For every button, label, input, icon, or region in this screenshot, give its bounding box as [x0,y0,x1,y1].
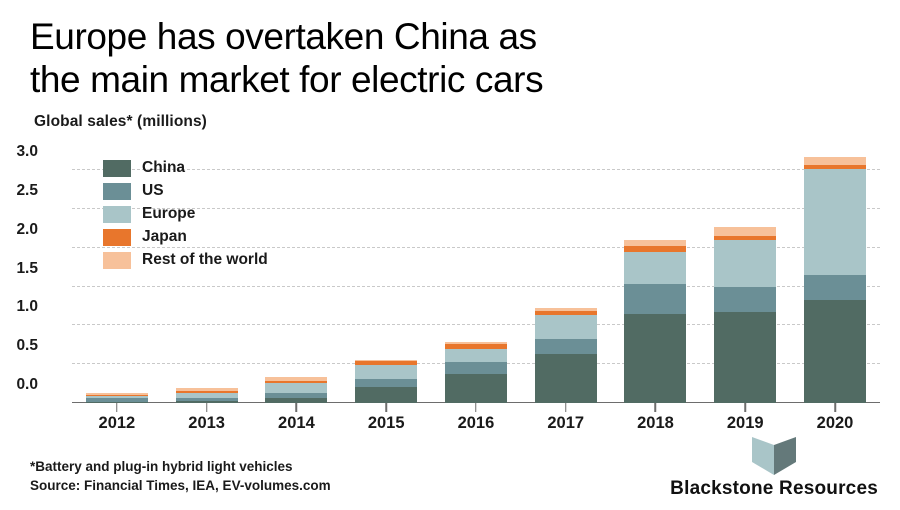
chart-header: Europe has overtaken China as the main m… [0,0,900,131]
x-axis-label-2020: 2020 [790,414,880,433]
bar-segment-china[interactable] [714,312,776,403]
legend-item-europe[interactable]: Europe [103,205,268,223]
stacked-bar[interactable] [714,227,776,403]
source-text: Source: Financial Times, IEA, EV-volumes… [30,476,331,496]
x-axis-tick [385,403,387,412]
stacked-bar[interactable] [535,308,597,403]
legend-item-japan[interactable]: Japan [103,228,268,246]
x-axis-label-2014: 2014 [252,414,342,433]
x-axis-label-2019: 2019 [700,414,790,433]
x-axis-label-2015: 2015 [341,414,431,433]
bar-segment-europe[interactable] [445,349,507,362]
stacked-bar[interactable] [176,388,238,403]
bar-segment-rest-of-the-world[interactable] [804,157,866,165]
stacked-bar[interactable] [804,157,866,403]
x-axis-label-2018: 2018 [611,414,701,433]
brand-logo: Blackstone Resources [670,436,878,500]
bar-group-2019[interactable] [700,151,790,403]
bar-group-2016[interactable] [431,151,521,403]
legend-swatch [103,252,131,269]
stacked-bar[interactable] [86,393,148,403]
bar-segment-europe[interactable] [804,169,866,275]
bar-group-2015[interactable] [341,151,431,403]
legend-label: China [142,159,185,177]
legend-label: Rest of the world [142,251,268,269]
x-axis-tick [116,403,118,412]
bar-segment-us[interactable] [355,379,417,387]
x-axis-labels: 201220132014201520162017201820192020 [72,414,880,433]
legend-item-rest-of-the-world[interactable]: Rest of the world [103,251,268,269]
bar-group-2017[interactable] [521,151,611,403]
brand-name: Blackstone Resources [670,478,878,500]
bar-segment-europe[interactable] [624,252,686,285]
x-axis-tick [834,403,836,412]
bar-segment-china[interactable] [624,314,686,403]
bar-segment-europe[interactable] [535,315,597,339]
bar-segment-europe[interactable] [355,365,417,379]
y-axis-tick-label: 1.0 [0,298,38,316]
bar-segment-us[interactable] [714,287,776,313]
y-axis-tick-label: 2.5 [0,182,38,200]
y-axis-tick-label: 0.5 [0,337,38,355]
x-axis-tick [565,403,567,412]
y-axis-tick-label: 1.5 [0,260,38,278]
bar-segment-us[interactable] [804,275,866,300]
legend-swatch [103,183,131,200]
bar-segment-china[interactable] [804,300,866,403]
x-axis-tick [296,403,298,412]
legend-item-us[interactable]: US [103,182,268,200]
y-axis-tick-label: 0.0 [0,376,38,394]
chart-legend: ChinaUSEuropeJapanRest of the world [103,159,268,269]
x-axis-label-2013: 2013 [162,414,252,433]
bar-segment-europe[interactable] [265,383,327,393]
footnote-text: *Battery and plug-in hybrid light vehicl… [30,457,331,477]
bar-group-2020[interactable] [790,151,880,403]
legend-label: US [142,182,164,200]
bar-segment-rest-of-the-world[interactable] [714,227,776,236]
x-axis-label-2016: 2016 [431,414,521,433]
x-axis-label-2017: 2017 [521,414,611,433]
x-axis-tick [744,403,746,412]
stacked-bar[interactable] [355,360,417,403]
stacked-bar[interactable] [445,342,507,403]
chart-subtitle: Global sales* (millions) [34,113,870,131]
x-axis-tick [655,403,657,412]
page-title: Europe has overtaken China as the main m… [30,16,870,102]
y-axis-tick-label: 3.0 [0,143,38,161]
legend-label: Europe [142,205,195,223]
bar-segment-europe[interactable] [714,240,776,287]
chart-footer: *Battery and plug-in hybrid light vehicl… [0,448,900,510]
bar-segment-china[interactable] [355,387,417,403]
stacked-bar[interactable] [624,240,686,403]
footnote-block: *Battery and plug-in hybrid light vehicl… [30,457,331,496]
legend-swatch [103,229,131,246]
bar-segment-china[interactable] [445,374,507,403]
bar-segment-us[interactable] [624,284,686,313]
x-axis-tick [475,403,477,412]
legend-label: Japan [142,228,187,246]
stacked-bar[interactable] [265,377,327,403]
legend-swatch [103,160,131,177]
legend-swatch [103,206,131,223]
x-axis-label-2012: 2012 [72,414,162,433]
bar-segment-us[interactable] [535,339,597,355]
x-axis-tick [206,403,208,412]
bar-group-2018[interactable] [611,151,701,403]
y-axis-tick-label: 2.0 [0,221,38,239]
folded-book-mark-icon [751,436,797,476]
bar-segment-us[interactable] [445,362,507,374]
legend-item-china[interactable]: China [103,159,268,177]
bar-segment-china[interactable] [535,354,597,403]
chart-area: 0.00.51.01.52.02.53.0 201220132014201520… [0,131,900,446]
